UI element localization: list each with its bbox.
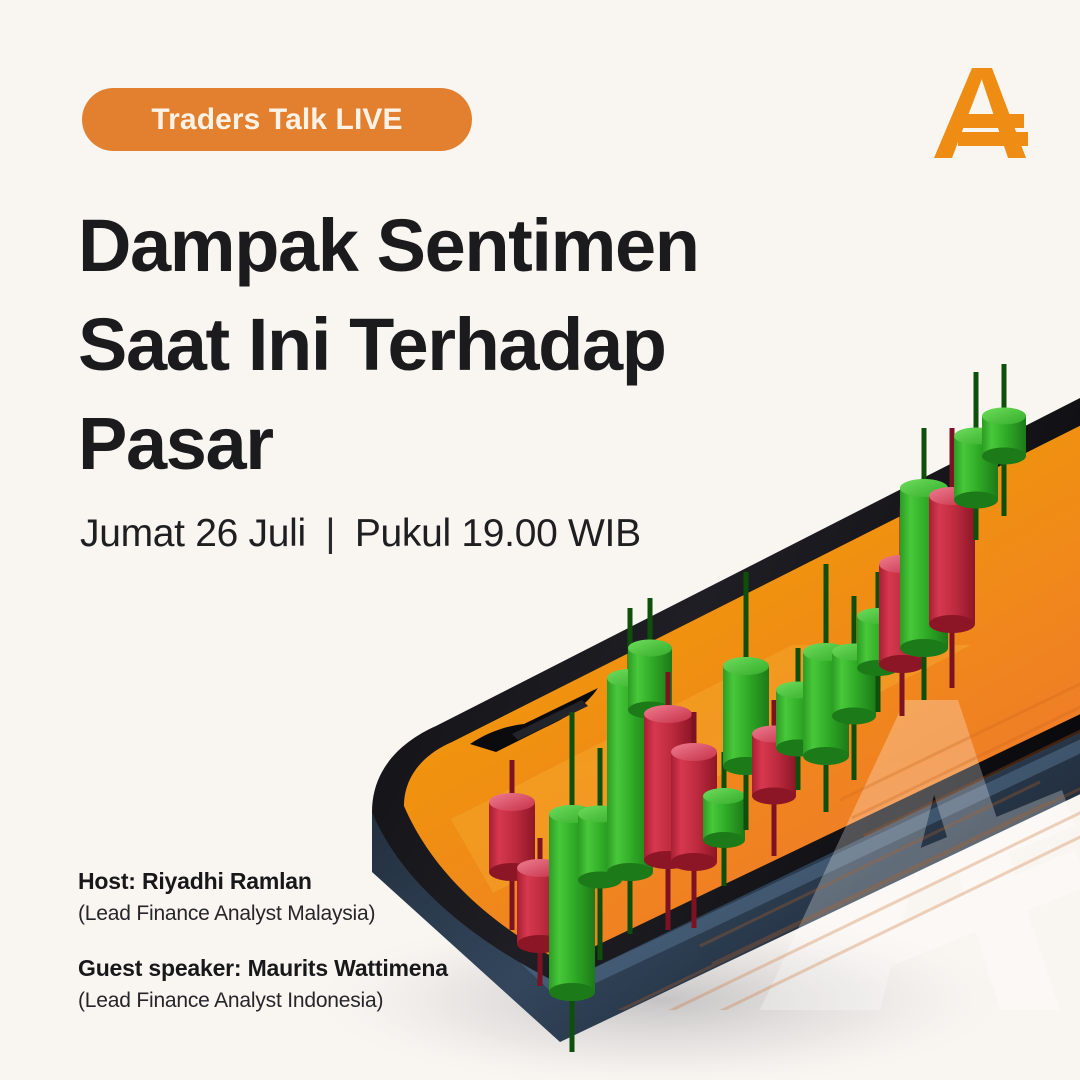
headline-line-2: Saat Ini Terhadap — [78, 295, 838, 394]
notch-icon — [470, 688, 598, 752]
credit-guest-name: Guest speaker: Maurits Wattimena — [78, 953, 548, 983]
candle-18-bearish — [929, 428, 975, 688]
candle-10-bullish — [723, 572, 769, 830]
credit-host-name: Host: Riyadhi Ramlan — [78, 866, 548, 896]
candle-8-bearish — [671, 712, 717, 928]
headline-line-1: Dampak Sentimen — [78, 196, 838, 295]
candle-20-bullish — [982, 364, 1026, 516]
candle-7-bearish — [644, 672, 692, 930]
headline-line-3: Pasar — [78, 394, 838, 493]
candle-12-bullish — [776, 648, 820, 790]
credit-host: Host: Riyadhi Ramlan (Lead Finance Analy… — [78, 866, 548, 929]
candle-9-bullish — [703, 752, 745, 886]
candle-11-bearish — [752, 700, 796, 856]
candle-15-bullish — [857, 572, 899, 712]
schedule-date: Jumat 26 Juli — [80, 512, 306, 555]
candle-5-bullish — [607, 608, 653, 934]
credit-host-role: (Lead Finance Analyst Malaysia) — [78, 899, 548, 929]
live-badge-label: Traders Talk LIVE — [151, 103, 402, 137]
candle-19-bullish — [954, 372, 998, 540]
candle-17-bullish — [900, 428, 948, 700]
schedule-line: Jumat 26 Juli | Pukul 19.00 WIB — [80, 512, 641, 556]
credits-block: Host: Riyadhi Ramlan (Lead Finance Analy… — [78, 866, 548, 1016]
schedule-time: Pukul 19.00 WIB — [355, 512, 641, 555]
credit-guest-role: (Lead Finance Analyst Indonesia) — [78, 986, 548, 1016]
live-badge: Traders Talk LIVE — [82, 88, 472, 151]
a-logo-watermark-icon — [760, 700, 1080, 1010]
screen-line-texture — [600, 655, 1080, 1056]
credit-guest: Guest speaker: Maurits Wattimena (Lead F… — [78, 953, 548, 1016]
candle-4-bullish — [578, 748, 622, 960]
poster-canvas: Traders Talk LIVE Dampak Sentimen Saat I… — [0, 0, 1080, 1080]
schedule-separator: | — [316, 512, 344, 556]
candle-14-bullish — [832, 596, 876, 780]
candle-16-bearish — [879, 508, 925, 716]
candle-13-bullish — [803, 564, 849, 812]
aletheia-a-logo-icon — [928, 62, 1036, 164]
page-title: Dampak Sentimen Saat Ini Terhadap Pasar — [78, 196, 838, 493]
candle-3-bullish — [549, 712, 595, 1052]
candle-6-bullish — [628, 598, 672, 758]
